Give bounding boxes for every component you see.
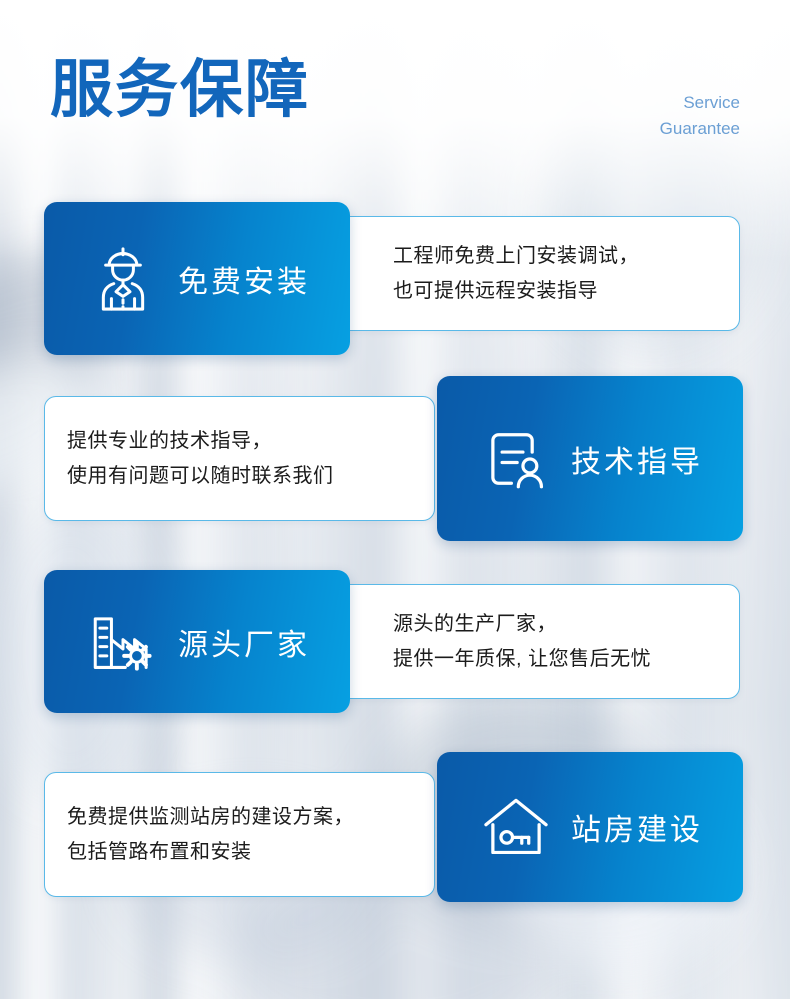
page-title: 服务保障 [50, 57, 310, 123]
service-description-panel-2: 提供专业的技术指导， 使用有问题可以随时联系我们 [44, 396, 435, 521]
page-subtitle: Service Guarantee [520, 90, 740, 143]
service-card-technical-guidance[interactable]: 技术指导 [437, 376, 743, 541]
description-line-2: 提供一年质保, 让您售后无忧 [393, 642, 651, 676]
service-row-3: 源头的生产厂家， 提供一年质保, 让您售后无忧 源头厂家 [0, 570, 790, 720]
engineer-helmet-icon [86, 242, 160, 316]
description-line-1: 免费提供监测站房的建设方案， [67, 800, 354, 834]
service-guarantee-page: 服务保障 Service Guarantee 工程师免费上门安装调试， 也可提供… [0, 0, 790, 999]
description-line-2: 也可提供远程安装指导 [393, 274, 639, 308]
service-row-1: 工程师免费上门安装调试， 也可提供远程安装指导 [0, 202, 790, 357]
service-description-panel-4: 免费提供监测站房的建设方案， 包括管路布置和安装 [44, 772, 435, 897]
service-row-2: 提供专业的技术指导， 使用有问题可以随时联系我们 技术指导 [0, 376, 790, 541]
page-header: 服务保障 Service Guarantee [0, 0, 790, 190]
service-card-label-4: 站房建设 [571, 805, 703, 849]
description-line-1: 提供专业的技术指导， [67, 424, 334, 458]
service-row-4: 免费提供监测站房的建设方案， 包括管路布置和安装 站房建设 [0, 752, 790, 904]
document-person-icon [479, 422, 553, 496]
service-card-label-1: 免费安装 [178, 257, 310, 301]
service-card-station-construction[interactable]: 站房建设 [437, 752, 743, 902]
service-card-source-factory[interactable]: 源头厂家 [44, 570, 350, 713]
service-card-label-3: 源头厂家 [178, 620, 310, 664]
description-line-1: 工程师免费上门安装调试， [393, 239, 639, 273]
description-line-1: 源头的生产厂家， [393, 607, 651, 641]
description-line-2: 包括管路布置和安装 [67, 835, 354, 869]
service-description-text-2: 提供专业的技术指导， 使用有问题可以随时联系我们 [45, 424, 334, 493]
service-card-free-installation[interactable]: 免费安装 [44, 202, 350, 355]
service-description-text-4: 免费提供监测站房的建设方案， 包括管路布置和安装 [45, 800, 354, 869]
house-key-icon [479, 790, 553, 864]
factory-gear-icon [86, 605, 160, 679]
subtitle-line-2: Guarantee [520, 116, 740, 142]
description-line-2: 使用有问题可以随时联系我们 [67, 459, 334, 493]
subtitle-line-1: Service [520, 90, 740, 116]
service-card-label-2: 技术指导 [571, 437, 703, 481]
